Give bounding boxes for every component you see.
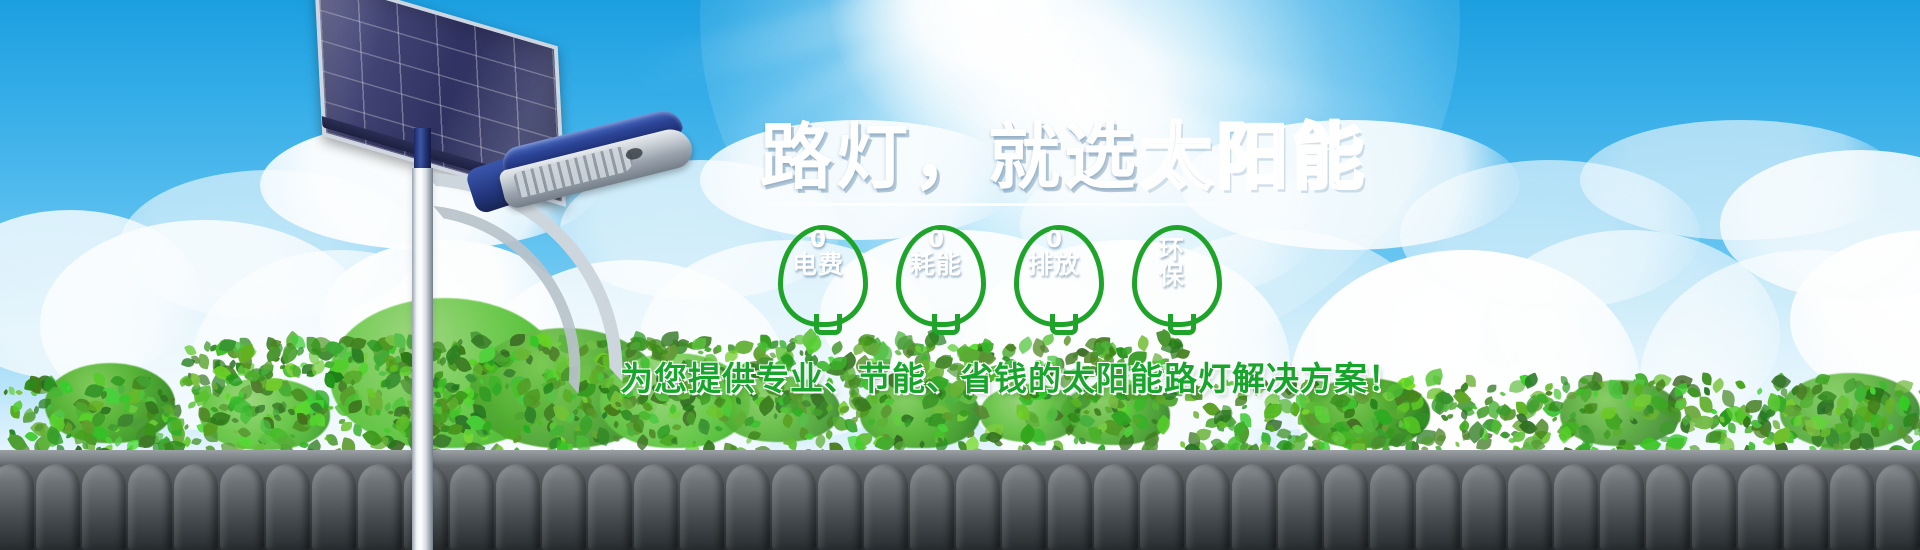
solar-panel-icon: [314, 0, 566, 207]
roof-tile: [680, 464, 724, 550]
roof-tile: [36, 464, 80, 550]
roof-tile: [634, 464, 678, 550]
roof-tile: [220, 464, 264, 550]
banner-copy: 路灯，就选太阳能 0 电费 0 耗能 0: [740, 0, 1920, 550]
solar-panel-edge: [322, 116, 554, 195]
pole-collar: [414, 128, 431, 172]
lamp-joint: [464, 155, 530, 215]
roof-tile: [174, 464, 218, 550]
feature-badge: 环 保: [1124, 225, 1220, 330]
banner-tagline: 为您提供专业、节能、省钱的太阳能路灯解决方案！: [620, 352, 1402, 400]
divider: [768, 203, 1228, 206]
roof-tile: [450, 464, 494, 550]
feature-badge: 0 电费: [770, 225, 866, 330]
cloud-puff: [260, 120, 600, 250]
hero-banner: 路灯，就选太阳能 0 电费 0 耗能 0: [0, 0, 1920, 550]
roof-tile: [496, 464, 540, 550]
badge-label: 排放: [1006, 252, 1102, 278]
badge-value: 0: [770, 229, 866, 252]
roof-tile: [312, 464, 356, 550]
roof-tile: [128, 464, 172, 550]
feature-badge: 0 排放: [1006, 225, 1102, 330]
roof-tile: [266, 464, 310, 550]
roof-tile: [358, 464, 402, 550]
page-title: 路灯，就选太阳能: [760, 98, 1368, 203]
led-lamp-head-icon: [493, 105, 697, 214]
roof-tile: [82, 464, 126, 550]
roof-tile: [0, 464, 34, 550]
badge-value: 环: [1124, 237, 1220, 263]
badge-value: 0: [888, 229, 984, 252]
roof-tile: [404, 464, 448, 550]
headline-primary: 路灯，就选: [760, 115, 1140, 199]
cloud-puff: [120, 170, 420, 320]
badge-label: 保: [1124, 263, 1220, 289]
badge-label: 耗能: [888, 252, 984, 278]
feature-badge: 0 耗能: [888, 225, 984, 330]
headline-accent: 太阳能: [1140, 115, 1368, 199]
feature-badge-list: 0 电费 0 耗能 0 排放: [770, 225, 1230, 330]
roof-tile: [588, 464, 632, 550]
badge-label: 电费: [770, 252, 866, 278]
roof-tile: [542, 464, 586, 550]
badge-value: 0: [1006, 229, 1102, 252]
